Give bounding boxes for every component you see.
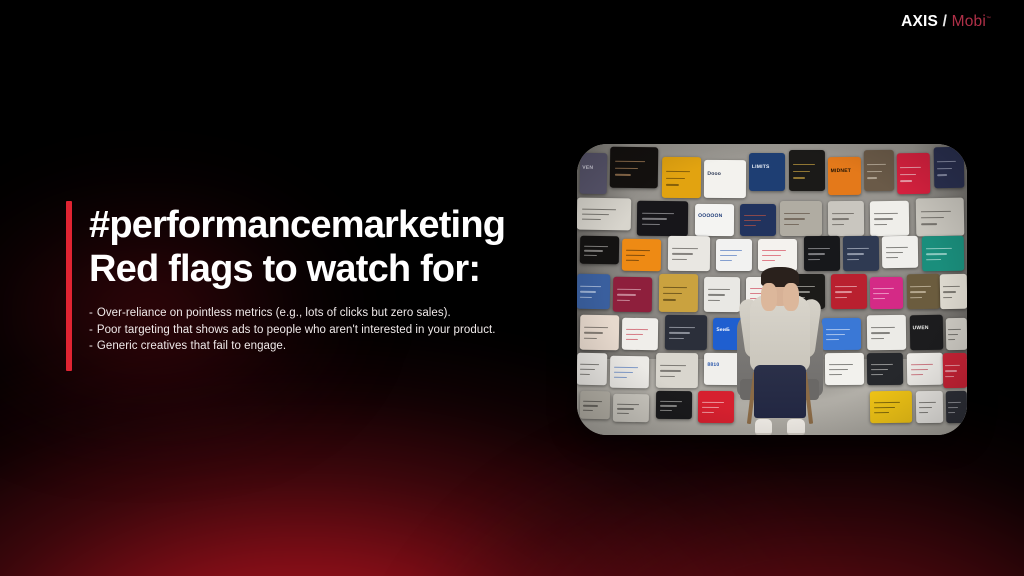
poster-text-line	[669, 332, 689, 334]
poster-text-line	[643, 218, 668, 220]
poster-text-line	[792, 164, 814, 166]
poster-text-line	[835, 297, 847, 299]
poster-text-line	[666, 177, 685, 179]
poster-card	[864, 150, 895, 191]
poster-text-line	[762, 255, 781, 257]
poster-text-line	[583, 409, 593, 411]
poster-text-line	[871, 363, 893, 365]
hand-left	[761, 283, 777, 311]
poster-text-line	[948, 329, 961, 331]
poster-text-line	[614, 377, 627, 379]
poster-card	[661, 156, 701, 197]
poster-text-line	[937, 161, 956, 163]
poster-text-line	[910, 369, 927, 371]
poster-text-line	[826, 339, 839, 341]
poster-text-line	[580, 291, 596, 293]
poster-text-line	[910, 374, 922, 376]
poster-card	[610, 356, 650, 388]
poster-text-line	[867, 164, 886, 166]
poster-text-line	[874, 401, 900, 403]
poster-card	[665, 315, 708, 350]
poster-text-line	[943, 291, 956, 293]
bullet-item: -Over-reliance on pointless metrics (e.g…	[89, 305, 559, 322]
poster-card	[622, 318, 659, 350]
poster-text-line	[580, 363, 599, 365]
poster-text-line	[886, 257, 898, 259]
poster-card	[943, 353, 967, 388]
poster-card	[870, 277, 904, 309]
poster-text-line	[875, 412, 889, 414]
poster-text-line	[584, 326, 608, 328]
poster-text-line	[945, 376, 953, 378]
poster-text-line	[832, 218, 849, 220]
poster-text-line	[643, 224, 660, 226]
poster-text-line	[942, 285, 959, 287]
poster-text-line	[663, 292, 682, 294]
poster-text-line	[663, 286, 687, 288]
poster-text-line	[945, 370, 957, 372]
poster-card	[580, 314, 620, 349]
poster-text-line	[901, 167, 922, 169]
poster-card	[882, 235, 919, 267]
poster-card	[870, 390, 913, 422]
poster-label: UWEN	[912, 325, 928, 331]
poster-card	[613, 394, 650, 423]
poster-card: MIDNET	[828, 157, 862, 195]
poster-card	[613, 277, 653, 312]
poster-text-line	[874, 298, 885, 300]
poster-text-line	[874, 293, 890, 295]
poster-text-line	[744, 220, 761, 222]
slide-canvas: AXIS / Mobi™ #performancemarketing Red f…	[0, 0, 1024, 576]
poster-text-line	[937, 168, 952, 170]
poster-text-line	[847, 247, 869, 249]
poster-text-line	[847, 259, 859, 261]
poster-text-line	[626, 260, 639, 262]
poster-text-line	[666, 170, 690, 172]
pants	[754, 365, 806, 417]
poster-text-line	[832, 224, 844, 226]
poster-text-line	[871, 332, 890, 334]
poster-text-line	[874, 213, 898, 215]
poster-text-line	[660, 364, 686, 366]
poster-text-line	[762, 250, 786, 252]
poster-text-line	[582, 213, 608, 215]
poster-card	[831, 274, 868, 309]
poster-text-line	[874, 406, 894, 408]
poster-text-line	[826, 329, 850, 331]
illustration-photo: VENDoooLIMITSMIDNETOOOOONSeиБUWEN8810	[577, 144, 967, 435]
hand-right	[783, 283, 799, 311]
poster-card: UWEN	[909, 315, 943, 350]
page-title: #performancemarketing Red flags to watch…	[89, 203, 559, 291]
poster-text-line	[669, 338, 683, 340]
poster-text-line	[617, 300, 630, 302]
poster-text-line	[614, 366, 638, 368]
poster-card	[655, 391, 692, 420]
poster-card	[789, 150, 825, 191]
poster-card	[946, 318, 967, 350]
poster-text-line	[660, 370, 680, 372]
poster-text-line	[665, 184, 678, 186]
poster-text-line	[835, 285, 857, 287]
poster-card	[843, 236, 880, 271]
poster-text-line	[615, 161, 645, 163]
poster-text-line	[835, 291, 852, 293]
poster-text-line	[662, 299, 675, 301]
poster-text-line	[867, 171, 882, 173]
brand-logo-primary: AXIS	[901, 13, 938, 30]
poster-text-line	[920, 210, 950, 212]
bullet-marker: -	[89, 340, 93, 352]
poster-text-line	[660, 376, 674, 378]
poster-text-line	[901, 174, 917, 176]
poster-text-line	[617, 403, 640, 405]
poster-card	[577, 197, 632, 230]
poster-text-line	[918, 406, 931, 408]
poster-card	[939, 273, 967, 308]
poster-text-line	[918, 401, 935, 403]
seated-person	[733, 260, 827, 435]
bullet-item: -Generic creatives that fail to engage.	[89, 338, 559, 355]
poster-text-line	[720, 250, 742, 252]
poster-card	[580, 235, 620, 264]
poster-text-line	[874, 218, 893, 220]
poster-text-line	[874, 224, 887, 226]
poster-text-line	[614, 372, 633, 374]
poster-card: Dooo	[704, 160, 746, 198]
poster-card: OOOOON	[695, 204, 734, 236]
poster-card	[577, 273, 611, 308]
accent-bar	[66, 201, 72, 371]
poster-label: 8810	[707, 362, 719, 368]
poster-text-line	[926, 259, 940, 261]
poster-text-line	[617, 408, 634, 410]
poster-text-line	[807, 247, 829, 249]
poster-text-line	[659, 409, 671, 411]
poster-card	[825, 353, 865, 385]
torso-sweater	[750, 295, 810, 372]
poster-text-line	[871, 327, 895, 329]
poster-card	[577, 352, 607, 384]
poster-text-line	[672, 253, 692, 255]
content-block: #performancemarketing Red flags to watch…	[89, 203, 559, 355]
bullet-text: Generic creatives that fail to engage.	[97, 340, 286, 352]
poster-card	[915, 390, 943, 422]
poster-card	[921, 235, 964, 270]
poster-text-line	[626, 255, 645, 257]
poster-card	[870, 201, 910, 236]
poster-text-line	[583, 405, 598, 407]
poster-text-line	[708, 294, 725, 296]
headline-line-1: #performancemarketing	[89, 204, 505, 246]
poster-text-line	[829, 363, 853, 365]
poster-card: LIMITS	[749, 153, 785, 191]
poster-text-line	[659, 400, 681, 402]
poster-text-line	[886, 246, 909, 248]
poster-text-line	[826, 334, 845, 336]
poster-text-line	[626, 249, 650, 251]
poster-text-line	[708, 300, 720, 302]
poster-text-line	[910, 285, 931, 287]
poster-text-line	[617, 412, 629, 414]
poster-card	[822, 318, 862, 350]
poster-text-line	[702, 411, 714, 413]
poster-text-line	[871, 338, 884, 340]
poster-label: LIMITS	[752, 165, 770, 171]
poster-text-line	[784, 224, 798, 226]
poster-text-line	[672, 247, 698, 249]
poster-text-line	[720, 255, 737, 257]
poster-text-line	[910, 297, 921, 299]
bullet-text: Over-reliance on pointless metrics (e.g.…	[97, 307, 451, 319]
poster-label: Dooo	[707, 171, 721, 177]
poster-card	[946, 391, 967, 423]
poster-text-line	[792, 171, 809, 173]
poster-card	[668, 236, 711, 271]
poster-text-line	[937, 174, 947, 176]
poster-text-line	[784, 213, 810, 215]
poster-text-line	[792, 177, 804, 179]
poster-text-line	[910, 363, 933, 365]
poster-text-line	[672, 259, 686, 261]
poster-card	[779, 201, 821, 236]
poster-text-line	[615, 174, 631, 176]
poster-text-line	[580, 373, 590, 375]
poster-text-line	[582, 218, 601, 220]
poster-text-line	[901, 181, 912, 183]
poster-card	[610, 147, 659, 189]
poster-text-line	[580, 296, 591, 298]
poster-card	[698, 391, 734, 423]
poster-label: MIDNET	[831, 168, 851, 174]
poster-text-line	[784, 218, 804, 220]
poster-text-line	[945, 364, 960, 366]
poster-text-line	[948, 401, 961, 403]
poster-text-line	[832, 213, 854, 215]
brand-logo: AXIS / Mobi™	[901, 14, 991, 30]
poster-text-line	[948, 406, 958, 408]
shoe-right	[787, 419, 805, 435]
poster-text-line	[871, 369, 888, 371]
poster-card	[658, 273, 698, 311]
poster-text-line	[584, 250, 603, 252]
poster-text-line	[626, 339, 638, 341]
poster-card	[740, 204, 776, 236]
poster-text-line	[943, 297, 952, 299]
poster-text-line	[580, 285, 601, 287]
poster-text-line	[744, 225, 756, 227]
poster-text-line	[708, 289, 730, 291]
poster-card	[933, 147, 964, 189]
brand-logo-secondary: Mobi	[952, 13, 986, 30]
poster-text-line	[584, 245, 608, 247]
poster-card	[867, 315, 907, 350]
poster-label: OOOOON	[698, 213, 722, 219]
poster-text-line	[583, 400, 602, 402]
poster-text-line	[584, 337, 597, 339]
poster-card	[622, 239, 662, 271]
poster-card	[580, 390, 611, 419]
bullet-list: -Over-reliance on pointless metrics (e.g…	[89, 305, 559, 355]
bullet-item: -Poor targeting that shows ads to people…	[89, 322, 559, 339]
poster-text-line	[948, 339, 955, 341]
trademark-icon: ™	[986, 16, 991, 22]
poster-card	[906, 273, 940, 308]
poster-card	[828, 201, 865, 236]
brand-logo-separator: /	[943, 13, 948, 30]
poster-text-line	[584, 254, 597, 256]
poster-text-line	[807, 253, 824, 255]
poster-text-line	[702, 406, 719, 408]
poster-text-line	[626, 334, 643, 336]
poster-label: VEN	[582, 166, 593, 172]
poster-text-line	[920, 217, 943, 219]
bullet-marker: -	[89, 324, 93, 336]
poster-card	[897, 153, 931, 195]
poster-card: VEN	[580, 153, 608, 195]
poster-text-line	[886, 251, 903, 253]
poster-label: SeиБ	[716, 327, 730, 333]
poster-text-line	[720, 260, 732, 262]
poster-text-line	[871, 374, 883, 376]
poster-text-line	[829, 374, 842, 376]
poster-text-line	[626, 329, 649, 331]
poster-text-line	[744, 215, 766, 217]
poster-card	[915, 197, 964, 236]
poster-text-line	[948, 334, 958, 336]
shoe-left	[755, 419, 773, 435]
poster-text-line	[669, 326, 695, 328]
poster-text-line	[918, 412, 927, 414]
headline-line-2: Red flags to watch for:	[89, 247, 559, 291]
poster-text-line	[580, 368, 595, 370]
poster-text-line	[582, 208, 616, 210]
poster-text-line	[926, 253, 946, 255]
poster-text-line	[643, 213, 675, 215]
poster-text-line	[910, 291, 926, 293]
poster-text-line	[829, 369, 848, 371]
poster-text-line	[921, 223, 937, 225]
poster-card	[655, 353, 698, 388]
poster-text-line	[702, 401, 724, 403]
bullet-marker: -	[89, 307, 93, 319]
poster-text-line	[617, 288, 641, 290]
poster-card	[867, 353, 904, 385]
poster-card	[906, 352, 943, 384]
poster-text-line	[847, 253, 864, 255]
poster-text-line	[615, 167, 638, 169]
poster-text-line	[948, 412, 955, 414]
poster-text-line	[659, 405, 676, 407]
poster-card	[637, 201, 689, 236]
bullet-text: Poor targeting that shows ads to people …	[97, 324, 496, 336]
poster-text-line	[617, 294, 636, 296]
poster-text-line	[584, 332, 603, 334]
poster-text-line	[874, 288, 895, 290]
poster-text-line	[926, 247, 952, 249]
poster-text-line	[867, 177, 877, 179]
